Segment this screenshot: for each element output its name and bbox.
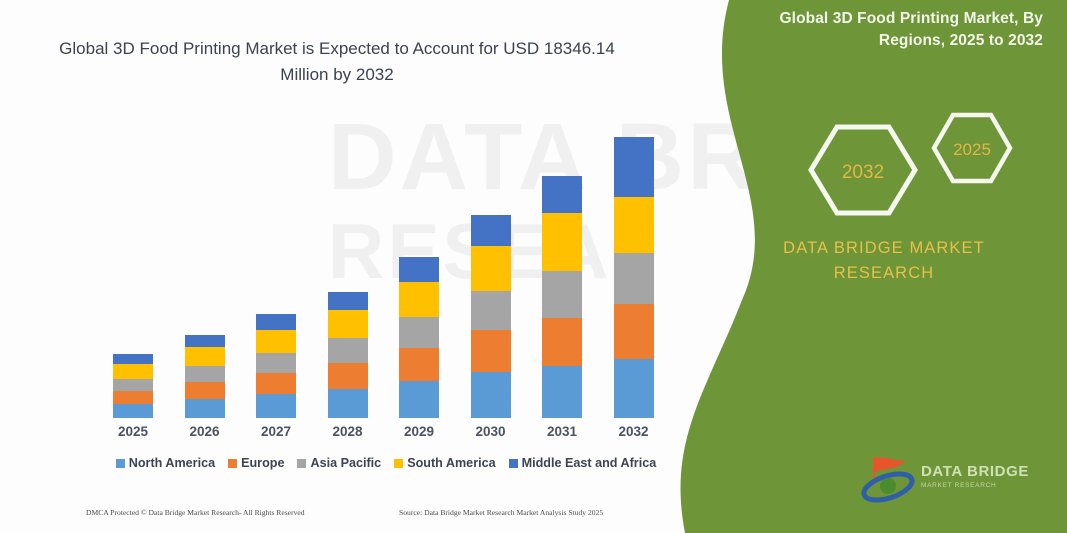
legend-item[interactable]: North America: [116, 456, 215, 470]
bar-segment[interactable]: [614, 304, 654, 359]
bar-segment[interactable]: [471, 291, 511, 330]
bar-column-2029[interactable]: [399, 257, 439, 418]
bar-segment[interactable]: [399, 348, 439, 381]
x-axis-label-2031: 2031: [534, 424, 590, 439]
x-axis-label-2025: 2025: [105, 424, 161, 439]
bar-segment[interactable]: [542, 271, 582, 318]
bar-segment[interactable]: [542, 366, 582, 418]
legend-swatch-icon: [509, 459, 518, 468]
legend-item[interactable]: Asia Pacific: [297, 456, 381, 470]
x-axis-label-2026: 2026: [177, 424, 233, 439]
bar-segment[interactable]: [614, 359, 654, 418]
bar-segment[interactable]: [256, 314, 296, 330]
hexagon-2032-label: 2032: [842, 162, 884, 183]
bar-segment[interactable]: [542, 318, 582, 366]
x-axis-label-2027: 2027: [248, 424, 304, 439]
legend-label: Middle East and Africa: [522, 456, 657, 470]
legend-swatch-icon: [228, 459, 237, 468]
bar-segment[interactable]: [256, 353, 296, 373]
bar-segment[interactable]: [542, 176, 582, 213]
source-note: Source: Data Bridge Market Research Mark…: [399, 508, 603, 517]
brand-line-2: RESEARCH: [727, 261, 1041, 286]
bar-segment[interactable]: [328, 292, 368, 310]
brand-name: DATA BRIDGE MARKET RESEARCH: [727, 236, 1041, 286]
green-side-panel: Global 3D Food Printing Market, By Regio…: [667, 0, 1067, 533]
bar-segment[interactable]: [399, 317, 439, 348]
bar-segment[interactable]: [185, 399, 225, 418]
bar-column-2030[interactable]: [471, 215, 511, 418]
bar-segment[interactable]: [256, 394, 296, 418]
bar-column-2025[interactable]: [113, 354, 153, 418]
legend-item[interactable]: Europe: [228, 456, 284, 470]
bar-segment[interactable]: [614, 137, 654, 197]
logo-mark-icon: [861, 451, 917, 505]
legend-label: South America: [407, 456, 495, 470]
bar-segment[interactable]: [256, 330, 296, 353]
bar-segment[interactable]: [328, 363, 368, 389]
logo-text: DATA BRIDGE MARKET RESEARCH: [921, 463, 1029, 490]
bar-segment[interactable]: [471, 246, 511, 291]
hexagon-group: 2025 2032: [777, 105, 1047, 225]
legend-item[interactable]: Middle East and Africa: [509, 456, 657, 470]
brand-line-1: DATA BRIDGE MARKET: [727, 236, 1041, 261]
legend-swatch-icon: [394, 459, 403, 468]
bar-segment[interactable]: [471, 372, 511, 418]
bar-segment[interactable]: [399, 381, 439, 418]
infographic-root: DATA BRI RESEA Global 3D Food Printing M…: [0, 0, 1067, 533]
data-bridge-logo: DATA BRIDGE MARKET RESEARCH: [861, 451, 1039, 507]
x-axis-label-2028: 2028: [320, 424, 376, 439]
legend-label: Europe: [241, 456, 284, 470]
bar-segment[interactable]: [614, 197, 654, 253]
page-title: Global 3D Food Printing Market is Expect…: [52, 36, 622, 89]
bar-segment[interactable]: [471, 330, 511, 372]
chart-legend: North AmericaEuropeAsia PacificSouth Ame…: [96, 456, 676, 470]
bar-segment[interactable]: [185, 366, 225, 382]
x-axis-label-2029: 2029: [391, 424, 447, 439]
bar-column-2032[interactable]: [614, 137, 654, 418]
x-axis-label-2030: 2030: [463, 424, 519, 439]
bar-segment[interactable]: [399, 257, 439, 282]
logo-subtext: MARKET RESEARCH: [921, 482, 1029, 490]
bar-segment[interactable]: [185, 382, 225, 399]
legend-swatch-icon: [116, 459, 125, 468]
bar-segment[interactable]: [113, 391, 153, 404]
bar-segment[interactable]: [542, 213, 582, 271]
dmca-notice: DMCA Protected © Data Bridge Market Rese…: [86, 508, 305, 517]
bar-segment[interactable]: [614, 253, 654, 304]
bar-column-2028[interactable]: [328, 292, 368, 418]
bar-segment[interactable]: [185, 347, 225, 366]
chart-panel: DATA BRI RESEA Global 3D Food Printing M…: [0, 0, 712, 533]
bar-segment[interactable]: [185, 335, 225, 347]
bar-segment[interactable]: [328, 338, 368, 363]
legend-label: North America: [129, 456, 215, 470]
legend-swatch-icon: [297, 459, 306, 468]
bar-segment[interactable]: [113, 379, 153, 391]
stacked-bar-chart: [88, 120, 668, 418]
bar-column-2027[interactable]: [256, 314, 296, 418]
bar-segment[interactable]: [113, 364, 153, 379]
hexagon-2025-label: 2025: [953, 140, 991, 159]
bar-column-2031[interactable]: [542, 176, 582, 418]
bar-segment[interactable]: [256, 373, 296, 394]
bar-segment[interactable]: [399, 282, 439, 317]
bar-column-2026[interactable]: [185, 335, 225, 418]
bar-segment[interactable]: [113, 404, 153, 418]
bar-segment[interactable]: [471, 215, 511, 246]
panel-title: Global 3D Food Printing Market, By Regio…: [725, 8, 1043, 53]
bar-segment[interactable]: [328, 310, 368, 338]
bar-segment[interactable]: [113, 354, 153, 364]
bar-segment[interactable]: [328, 389, 368, 418]
legend-item[interactable]: South America: [394, 456, 495, 470]
x-axis-label-2032: 2032: [606, 424, 662, 439]
legend-label: Asia Pacific: [310, 456, 381, 470]
